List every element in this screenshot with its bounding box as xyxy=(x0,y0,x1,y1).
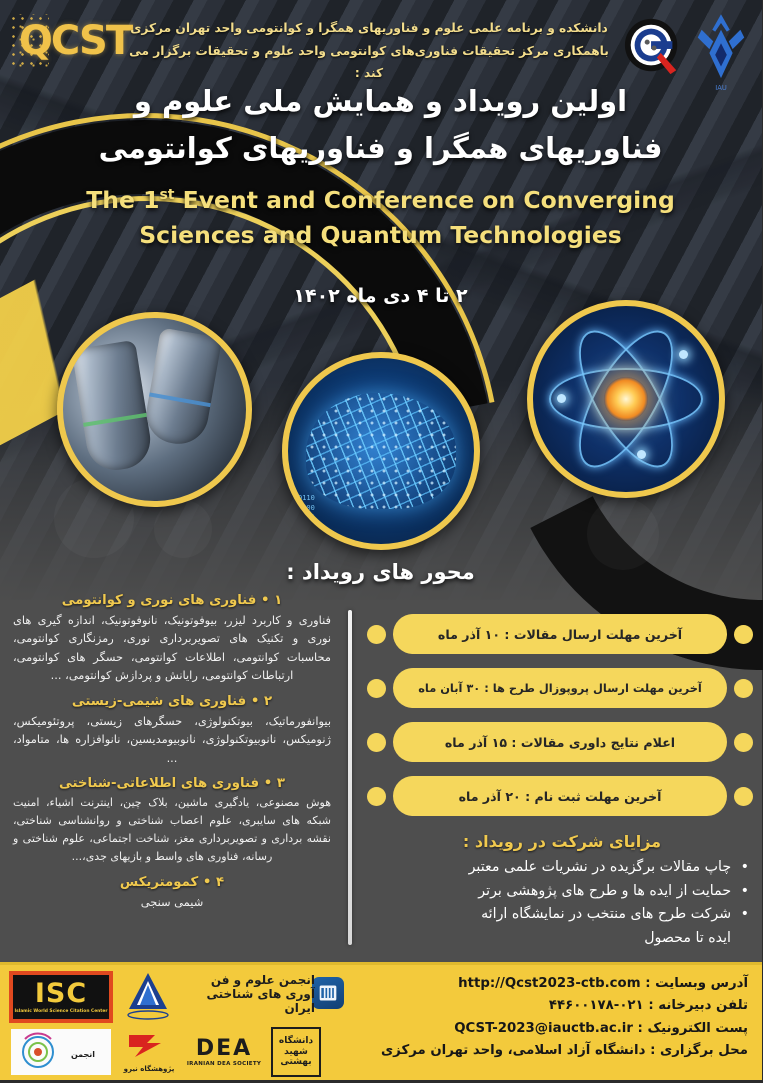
deadline-row: آخرین مهلت ارسال مقالات : ۱۰ آذر ماه xyxy=(368,614,754,654)
benefit-list-item: • شرکت طرح های منتخب در نمایشگاه ارائه xyxy=(372,904,754,926)
email-value[interactable]: QCST-2023@iauctb.ac.ir xyxy=(455,1018,634,1040)
topic-item: ۱ • فناوری های نوری و کوانتومی فناوری و … xyxy=(8,593,338,685)
research-institute-logo: انجمن xyxy=(12,1029,112,1075)
english-title-rest: Event and Conference on Converging xyxy=(184,186,676,214)
svg-text:پژوهشگاه نیرو: پژوهشگاه نیرو xyxy=(124,1064,176,1073)
circuit-brain-image: 0110 0100 1001 1001 xyxy=(283,352,481,550)
sponsor-logos: ISC Islamic World Science Citation Cente… xyxy=(0,965,340,1083)
footer-contact-info: آدرس وبسایت : http://Qcst2023-ctb.com تل… xyxy=(349,973,749,1062)
english-title-the-first: The 1 xyxy=(87,186,160,214)
topic-item: ۴ • کمومتریکس شیمی سنجی xyxy=(8,875,338,911)
deadline-dot-left-icon xyxy=(735,787,754,806)
benefit-continuation-text: ایده تا محصول xyxy=(372,928,754,950)
topic-title: ۱ • فناوری های نوری و کوانتومی xyxy=(8,593,338,608)
deadline-pill[interactable]: آخرین مهلت ارسال پروپوزال طرح ها : ۳۰ آب… xyxy=(394,668,728,708)
microscope-lens-left xyxy=(73,340,156,474)
footer-phone-row: تلفن دبیرخانه : ۰۲۱-۴۴۶۰۰۱۷۸ xyxy=(349,995,749,1017)
atom-electron-3 xyxy=(638,450,647,459)
organizer-line-1: دانشکده و برنامه علمی علوم و فناوریهای ه… xyxy=(127,17,613,40)
website-value[interactable]: http://Qcst2023-ctb.com xyxy=(459,973,641,995)
deadline-row: آخرین مهلت ارسال پروپوزال طرح ها : ۳۰ آب… xyxy=(368,668,754,708)
ordinal-suffix: st xyxy=(160,187,175,203)
topic-item: ۲ • فناوری های شیمی-زیستی بیوانفورماتیک،… xyxy=(8,694,338,767)
shahid-beheshti-text: دانشگاه شهید بهشتی xyxy=(274,1036,320,1067)
niroo-research-institute-logo: پژوهشگاه نیرو xyxy=(122,1027,178,1077)
isc-logo-text: ISC xyxy=(36,980,88,1007)
benefit-list-item: • حمایت از ایده ها و طرح های پژوهشی برتر xyxy=(372,881,754,903)
deadline-dot-right-icon xyxy=(368,733,387,752)
venue-value: دانشگاه آزاد اسلامی، واحد تهران مرکزی xyxy=(382,1043,646,1058)
deadline-pill[interactable]: اعلام نتایج داوری مقالات : ۱۵ آذر ماه xyxy=(394,722,728,762)
benefits-heading: مزایای شرکت در رویداد : xyxy=(372,832,754,851)
deadline-dot-right-icon xyxy=(368,787,387,806)
quantum-research-center-logo xyxy=(623,16,685,78)
benefit-text: شرکت طرح های منتخب در نمایشگاه ارائه xyxy=(482,906,732,922)
topic-title: ۴ • کمومتریکس xyxy=(8,875,338,890)
topic-item: ۳ • فناوری های اطلاعاتی-شناختی هوش مصنوع… xyxy=(8,776,338,865)
qcst-logo: QCST xyxy=(12,8,140,74)
topic-body: شیمی سنجی xyxy=(14,893,332,911)
bullet-icon: • xyxy=(742,906,750,922)
topic-title: ۳ • فناوری های اطلاعاتی-شناختی xyxy=(8,776,338,791)
topic-body: هوش مصنوعی، یادگیری ماشین، بلاک چین، این… xyxy=(14,794,332,865)
deadline-pill[interactable]: آخرین مهلت ارسال مقالات : ۱۰ آذر ماه xyxy=(394,614,728,654)
deadline-dot-right-icon xyxy=(368,625,387,644)
atom-image xyxy=(528,300,726,498)
footer-email-row: پست الکترونیک : QCST-2023@iauctb.ac.ir xyxy=(349,1018,749,1040)
brain-circuit-nodes xyxy=(307,393,457,509)
website-label: آدرس وبسایت : xyxy=(646,976,749,991)
benefit-text: چاپ مقالات برگزیده در نشریات علمی معتبر xyxy=(470,859,733,875)
deadline-row: آخرین مهلت ثبت نام : ۲۰ آذر ماه xyxy=(368,776,754,816)
footer-website-row: آدرس وبسایت : http://Qcst2023-ctb.com xyxy=(349,973,749,995)
footer-venue-row: محل برگزاری : دانشگاه آزاد اسلامی، واحد … xyxy=(349,1040,749,1062)
benefit-list-item: • چاپ مقالات برگزیده در نشریات علمی معتب… xyxy=(372,857,754,879)
deadline-dot-right-icon xyxy=(368,679,387,698)
shahid-beheshti-university-logo: دانشگاه شهید بهشتی xyxy=(272,1027,322,1077)
email-label: پست الکترونیک : xyxy=(639,1021,749,1036)
organizer-header: دانشکده و برنامه علمی علوم و فناوریهای ه… xyxy=(127,17,613,85)
venue-label: محل برگزاری : xyxy=(651,1043,749,1058)
binary-digits: 0110 0100 1001 1001 xyxy=(299,494,316,532)
isc-logo-subtitle: Islamic World Science Citation Center xyxy=(15,1010,108,1014)
deadline-dot-left-icon xyxy=(735,733,754,752)
deadline-row: اعلام نتایج داوری مقالات : ۱۵ آذر ماه xyxy=(368,722,754,762)
dea-society-logo: DEA IRANIAN DEA SOCIETY xyxy=(182,1033,268,1073)
footer-bar: آدرس وبسایت : http://Qcst2023-ctb.com تل… xyxy=(0,962,763,1080)
microscope-lens-right xyxy=(143,327,224,448)
dea-logo-subtitle: IRANIAN DEA SOCIETY xyxy=(188,1062,262,1068)
column-divider xyxy=(349,610,353,945)
qcst-logo-pixel-dots xyxy=(10,14,50,68)
benefit-text: حمایت از ایده ها و طرح های پژوهشی برتر xyxy=(479,883,732,899)
brain-circuit-shape xyxy=(307,393,457,509)
topics-list: ۱ • فناوری های نوری و کوانتومی فناوری و … xyxy=(8,593,338,920)
topic-body: فناوری و کاربرد لیزر، بیوفوتونیک، نانوفو… xyxy=(14,611,332,685)
atom-electron-1 xyxy=(558,394,567,403)
english-title: The 1st Event and Conference on Convergi… xyxy=(0,183,763,254)
deadlines-list: آخرین مهلت ارسال مقالات : ۱۰ آذر ماه آخر… xyxy=(368,614,754,830)
persian-title: اولین رویداد و همایش ملی علوم و فناوریها… xyxy=(0,78,763,172)
atom-electron-2 xyxy=(680,350,689,359)
topic-title: ۲ • فناوری های شیمی-زیستی xyxy=(8,694,338,709)
phone-value: ۰۲۱-۴۴۶۰۰۱۷۸ xyxy=(550,998,645,1013)
deadline-dot-left-icon xyxy=(735,625,754,644)
microscope-lenses-image xyxy=(58,312,253,507)
bullet-icon: • xyxy=(742,883,750,899)
topic-body: بیوانفورماتیک، بیوتکنولوژی، حسگرهای زیست… xyxy=(14,712,332,767)
persian-title-line-2: فناوریهای همگرا و فناوریهای کوانتومی xyxy=(0,125,763,172)
benefits-section: مزایای شرکت در رویداد : • چاپ مقالات برگ… xyxy=(372,832,754,949)
atom-nucleus xyxy=(605,377,649,421)
persian-title-line-1: اولین رویداد و همایش ملی علوم و xyxy=(0,78,763,125)
cognitive-society-logo: انجمن علوم و فن آوری های شناختی ایران xyxy=(196,969,316,1019)
isc-logo: ISC Islamic World Science Citation Cente… xyxy=(10,971,114,1023)
lens-green-band xyxy=(84,413,148,427)
lens-blue-band xyxy=(150,392,212,407)
english-title-line-2: Sciences and Quantum Technologies xyxy=(0,218,763,253)
deadline-dot-left-icon xyxy=(735,679,754,698)
bullet-icon: • xyxy=(742,859,750,875)
phone-label: تلفن دبیرخانه : xyxy=(649,998,749,1013)
pyramid-institute-logo xyxy=(122,969,176,1023)
deadline-pill[interactable]: آخرین مهلت ثبت نام : ۲۰ آذر ماه xyxy=(394,776,728,816)
english-title-line-1: The 1st Event and Conference on Convergi… xyxy=(0,183,763,218)
cognitive-society-text: انجمن علوم و فن آوری های شناختی ایران xyxy=(196,973,316,1015)
topics-heading: محور های رویداد : xyxy=(0,560,763,584)
ghost-circle-2 xyxy=(155,500,213,558)
svg-text:انجمن: انجمن xyxy=(72,1050,96,1059)
dea-logo-text: DEA xyxy=(197,1038,253,1060)
